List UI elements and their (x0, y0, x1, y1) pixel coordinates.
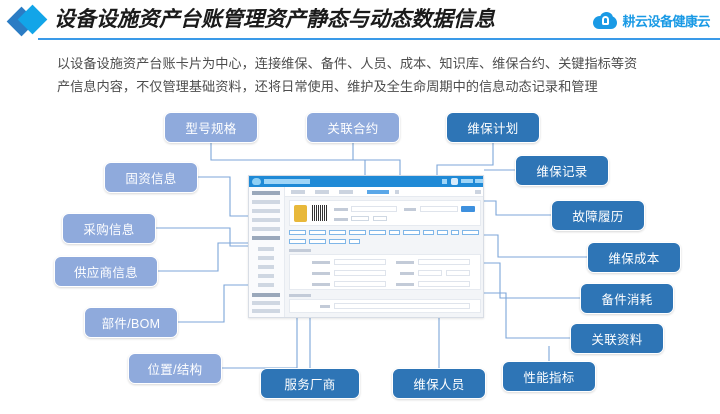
platform-screenshot (248, 175, 484, 318)
app-avatar (451, 178, 458, 185)
node-label: 部件/BOM (102, 313, 161, 332)
app-username (461, 179, 473, 183)
node-maint-cost[interactable]: 维保成本 (587, 242, 681, 273)
node-label: 固资信息 (125, 168, 176, 187)
header-divider (38, 38, 720, 40)
node-label: 故障履历 (572, 206, 623, 225)
node-label: 关联合约 (327, 118, 378, 137)
node-model-spec[interactable]: 型号规格 (164, 112, 258, 143)
node-maint-staff[interactable]: 维保人员 (392, 368, 486, 399)
app-primary-button[interactable] (461, 206, 475, 212)
app-sidebar (249, 187, 285, 318)
app-title-text (264, 179, 310, 184)
app-logout-link (475, 179, 483, 183)
node-part-bom[interactable]: 部件/BOM (84, 307, 178, 338)
asset-form-section-1 (289, 254, 481, 290)
node-label: 维保计划 (467, 118, 518, 137)
brand-logo: 耕云设备健康云 (593, 9, 710, 31)
node-label: 型号规格 (185, 118, 236, 137)
app-help-icon (442, 179, 447, 184)
node-label: 备件消耗 (601, 289, 652, 308)
brand-name: 耕云设备健康云 (622, 11, 710, 30)
node-perf-indicator[interactable]: 性能指标 (502, 361, 596, 392)
page-header: 设备设施资产台账管理资产静态与动态数据信息 耕云设备健康云 (0, 0, 720, 40)
qr-code-icon (312, 205, 328, 221)
node-label: 性能指标 (523, 367, 574, 386)
node-supplier-info[interactable]: 供应商信息 (54, 256, 158, 287)
node-related-docs[interactable]: 关联资料 (570, 323, 664, 354)
node-label: 采购信息 (83, 219, 134, 238)
node-fixed-asset[interactable]: 固资信息 (104, 162, 198, 193)
app-topbar (249, 176, 484, 187)
node-label: 位置/结构 (148, 359, 203, 378)
node-fault-history[interactable]: 故障履历 (551, 200, 645, 231)
description-line-2: 产信息内容，不仅管理基础资料，还将日常使用、维护及全生命周期中的信息动态记录和管… (57, 75, 697, 98)
description-line-1: 以设备设施资产台账卡片为中心，连接维保、备件、人员、成本、知识库、维保合约、关键… (57, 52, 697, 75)
app-logo-icon (252, 178, 261, 185)
asset-detail-tabs[interactable] (289, 229, 481, 237)
node-label: 维保记录 (536, 161, 587, 180)
node-label: 维保成本 (608, 248, 659, 267)
asset-form-section-2 (289, 299, 481, 313)
node-label: 服务厂商 (284, 374, 335, 393)
app-content (285, 197, 484, 318)
asset-ledger-diagram: 型号规格固资信息采购信息供应商信息部件/BOM位置/结构关联合约维保计划维保记录… (0, 103, 720, 414)
node-spare-consume[interactable]: 备件消耗 (580, 283, 674, 314)
node-related-contract[interactable]: 关联合约 (306, 112, 400, 143)
asset-detail-tabs-row2[interactable] (289, 238, 481, 246)
node-label: 维保人员 (413, 374, 464, 393)
asset-photo (294, 205, 307, 222)
node-label: 关联资料 (591, 329, 642, 348)
node-label: 供应商信息 (74, 262, 138, 281)
app-tab-strip[interactable] (285, 187, 484, 197)
asset-header-card (289, 200, 481, 226)
node-purchase-info[interactable]: 采购信息 (62, 213, 156, 244)
node-service-vendor[interactable]: 服务厂商 (260, 368, 360, 399)
cloud-wrench-icon (593, 12, 617, 29)
node-location-struct[interactable]: 位置/结构 (128, 353, 222, 384)
node-maint-record[interactable]: 维保记录 (515, 155, 609, 186)
page-title: 设备设施资产台账管理资产静态与动态数据信息 (54, 3, 495, 37)
node-maint-plan[interactable]: 维保计划 (446, 112, 540, 143)
diamond-logo-icon (8, 7, 54, 37)
description-paragraph: 以设备设施资产台账卡片为中心，连接维保、备件、人员、成本、知识库、维保合约、关键… (57, 52, 697, 98)
